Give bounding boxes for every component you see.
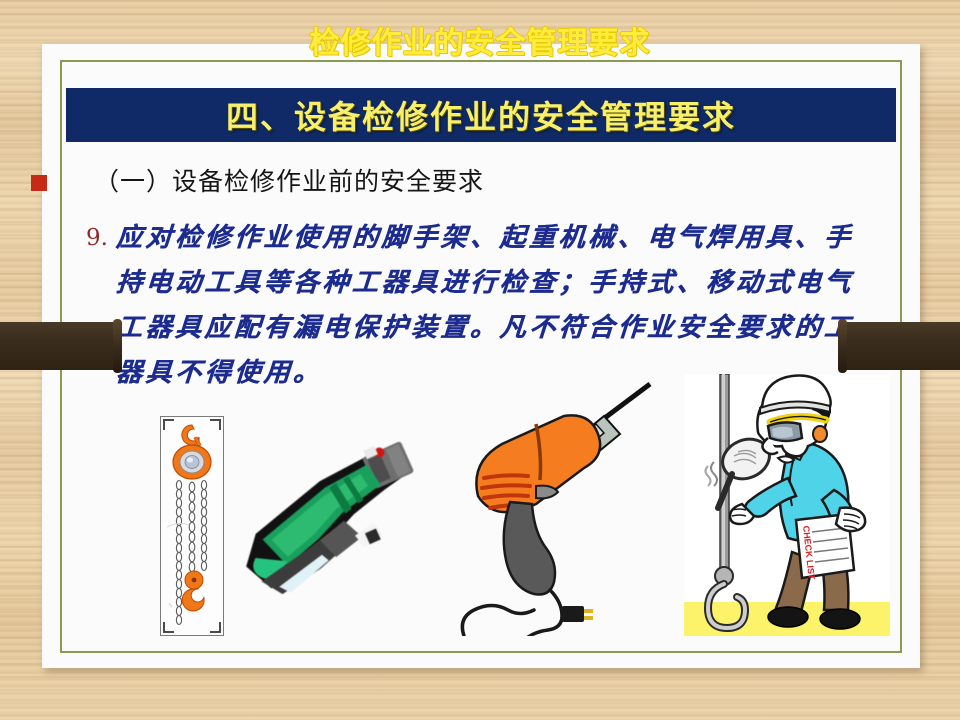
banner-title: 四、设备检修作业的安全管理要求: [226, 92, 736, 138]
right-bar-cap: [838, 319, 847, 373]
slide-card: 四、设备检修作业的安全管理要求 （一）设备检修作业前的安全要求 9. 应对检修作…: [42, 44, 920, 668]
body-line: 应对检修作业使用的脚手架、起重机械、电气焊用具、手: [114, 216, 905, 261]
inspector-cartoon-graphic: CHECK LIST: [684, 374, 890, 636]
item-number: 9.: [64, 216, 116, 261]
left-decorative-bar: [0, 322, 118, 370]
right-decorative-bar: [842, 322, 960, 370]
orange-drill-graphic: [444, 378, 664, 636]
green-power-tool-graphic: [220, 434, 436, 624]
chain-hoist-photo: [160, 416, 224, 636]
left-bar-cap: [113, 319, 122, 373]
body-line: 工器具应配有漏电保护装置。凡不符合作业安全要求的工: [114, 306, 905, 351]
photo-corner-mark: [163, 622, 174, 633]
red-square-bullet-icon: [31, 175, 47, 191]
photo-corner-mark: [163, 419, 174, 430]
body-lines: 应对检修作业使用的脚手架、起重机械、电气焊用具、手 持电动工具等各种工器具进行检…: [116, 216, 904, 396]
presentation-slide: 检修作业的安全管理要求 四、设备检修作业的安全管理要求 （一）设备检修作业前的安…: [0, 0, 960, 720]
orange-electric-drill: [444, 378, 664, 636]
photo-corner-mark: [210, 419, 221, 430]
subheading-text: （一）设备检修作业前的安全要求: [94, 162, 484, 198]
body-paragraph-block: 9. 应对检修作业使用的脚手架、起重机械、电气焊用具、手 持电动工具等各种工器具…: [64, 216, 904, 396]
chain-hoist-graphic: [161, 417, 223, 635]
section-banner: 四、设备检修作业的安全管理要求: [66, 88, 896, 142]
green-power-tool: [220, 434, 436, 624]
illustration-strip: CHECK LIST: [72, 374, 890, 636]
body-line: 持电动工具等各种工器具进行检查；手持式、移动式电气: [114, 261, 905, 306]
inspector-cartoon: CHECK LIST: [684, 374, 890, 636]
